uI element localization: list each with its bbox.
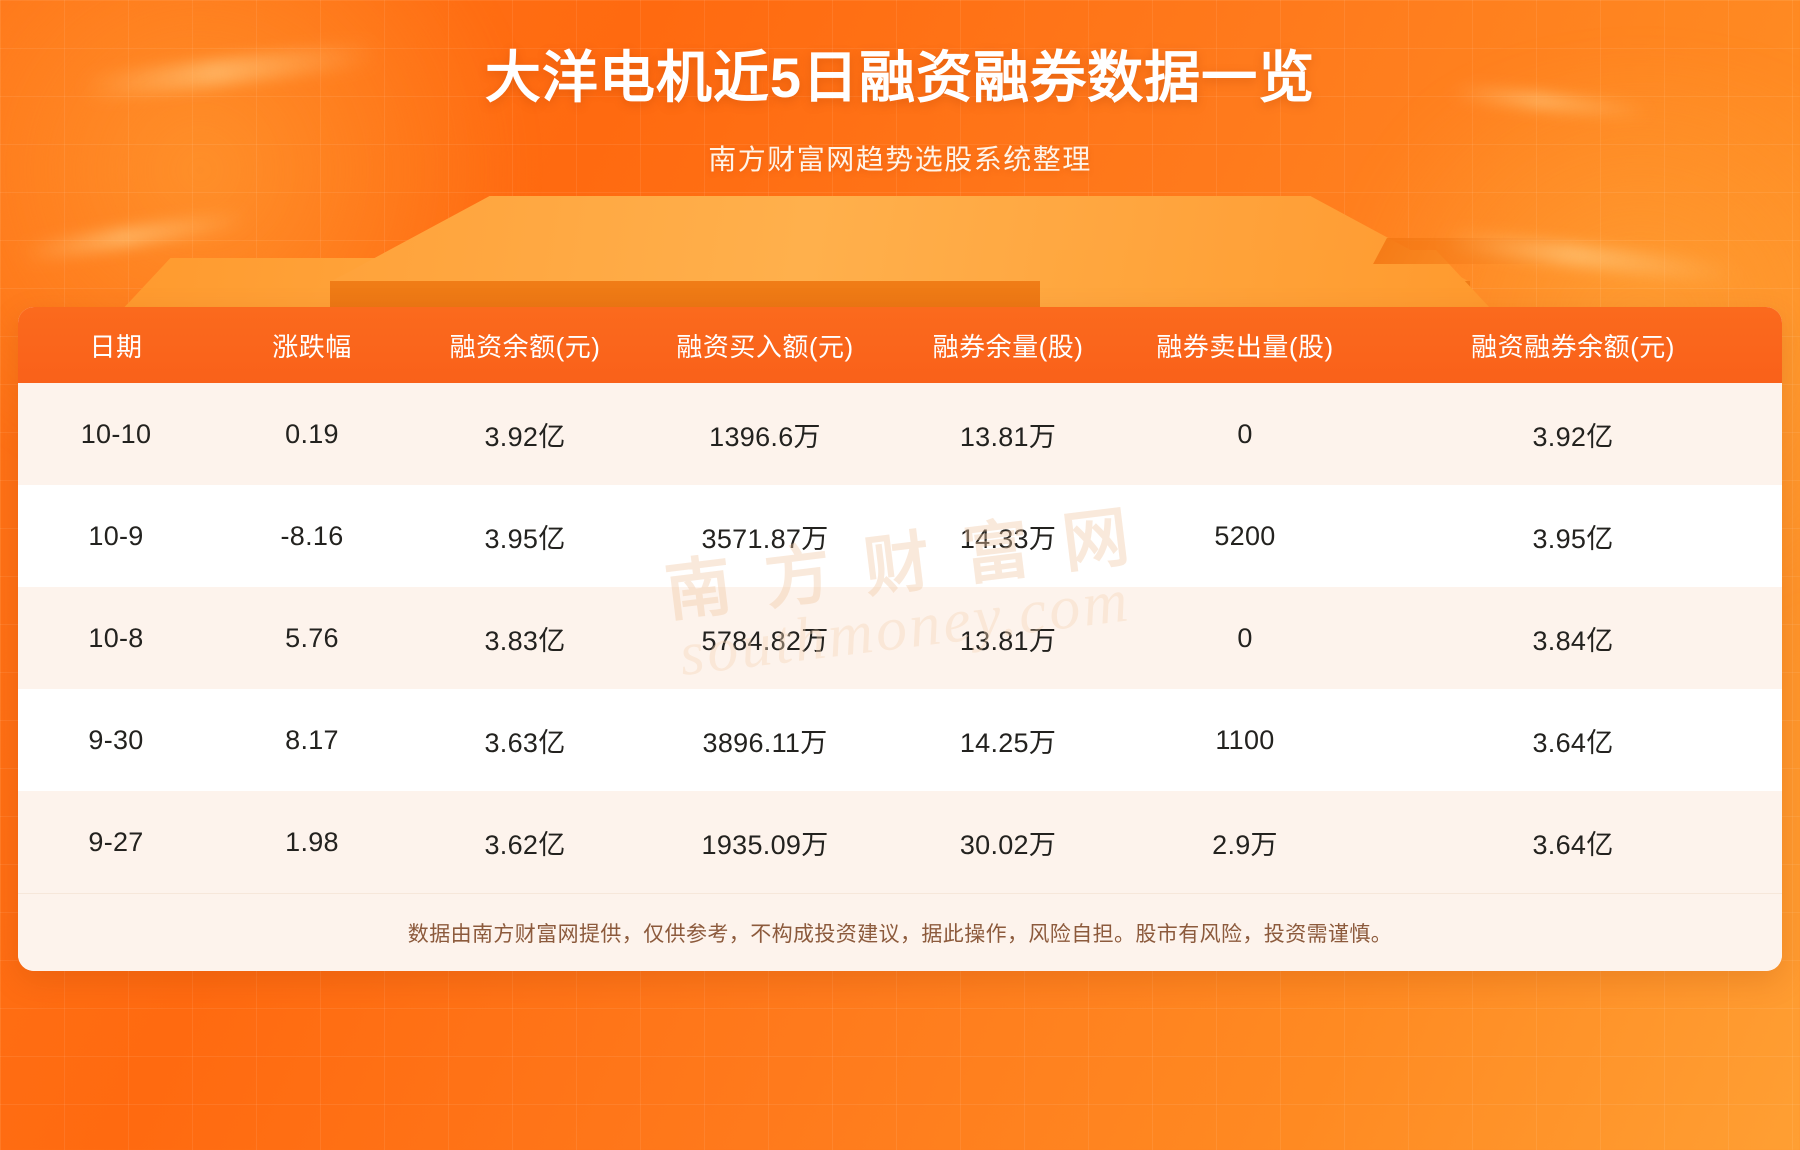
cell-financing-buy: 3896.11万	[640, 721, 890, 760]
table-row: 10-8 5.76 3.83亿 5784.82万 13.81万 0 3.84亿	[18, 587, 1782, 689]
table-row: 9-30 8.17 3.63亿 3896.11万 14.25万 1100 3.6…	[18, 689, 1782, 791]
column-header-date: 日期	[18, 327, 214, 364]
cell-securities-volume: 13.81万	[890, 415, 1126, 454]
table-body: 南方财富网 southmoney.com 10-10 0.19 3.92亿 13…	[18, 383, 1782, 893]
cell-securities-sell: 5200	[1126, 521, 1364, 552]
data-table-card: 日期 涨跌幅 融资余额(元) 融资买入额(元) 融券余量(股) 融券卖出量(股)…	[18, 307, 1782, 971]
cell-total-balance: 3.95亿	[1364, 517, 1782, 556]
page-header: 大洋电机近5日融资融券数据一览 南方财富网趋势选股系统整理	[0, 0, 1800, 178]
cell-financing-balance: 3.95亿	[410, 517, 640, 556]
cell-financing-buy: 5784.82万	[640, 619, 890, 658]
cell-financing-balance: 3.92亿	[410, 415, 640, 454]
cell-change: 5.76	[214, 623, 410, 654]
page-title: 大洋电机近5日融资融券数据一览	[0, 44, 1800, 112]
disclaimer-text: 数据由南方财富网提供，仅供参考，不构成投资建议，据此操作，风险自担。股市有风险，…	[408, 918, 1392, 948]
table-header-row: 日期 涨跌幅 融资余额(元) 融资买入额(元) 融券余量(股) 融券卖出量(股)…	[18, 307, 1782, 383]
cell-change: -8.16	[214, 521, 410, 552]
column-header-financing-buy: 融资买入额(元)	[640, 327, 890, 364]
cell-total-balance: 3.92亿	[1364, 415, 1782, 454]
cell-date: 10-10	[18, 419, 214, 450]
table-row: 10-9 -8.16 3.95亿 3571.87万 14.33万 5200 3.…	[18, 485, 1782, 587]
cell-date: 9-27	[18, 827, 214, 858]
cell-securities-volume: 13.81万	[890, 619, 1126, 658]
column-header-securities-sell: 融券卖出量(股)	[1126, 327, 1364, 364]
table-footer: 数据由南方财富网提供，仅供参考，不构成投资建议，据此操作，风险自担。股市有风险，…	[18, 893, 1782, 971]
cell-date: 9-30	[18, 725, 214, 756]
podium-riser-b	[634, 254, 678, 294]
cell-change: 0.19	[214, 419, 410, 450]
cell-securities-sell: 2.9万	[1126, 823, 1364, 862]
cell-date: 10-8	[18, 623, 214, 654]
cell-securities-volume: 14.25万	[890, 721, 1126, 760]
cell-financing-buy: 3571.87万	[640, 517, 890, 556]
column-header-change: 涨跌幅	[214, 327, 410, 364]
cell-financing-balance: 3.83亿	[410, 619, 640, 658]
cell-total-balance: 3.84亿	[1364, 619, 1782, 658]
table-row: 10-10 0.19 3.92亿 1396.6万 13.81万 0 3.92亿	[18, 383, 1782, 485]
cell-securities-sell: 1100	[1126, 725, 1364, 756]
cell-securities-volume: 14.33万	[890, 517, 1126, 556]
cell-date: 10-9	[18, 521, 214, 552]
cell-change: 1.98	[214, 827, 410, 858]
cell-financing-buy: 1396.6万	[640, 415, 890, 454]
cell-financing-balance: 3.62亿	[410, 823, 640, 862]
column-header-total-balance: 融资融券余额(元)	[1364, 327, 1782, 364]
cell-change: 8.17	[214, 725, 410, 756]
table-row: 9-27 1.98 3.62亿 1935.09万 30.02万 2.9万 3.6…	[18, 791, 1782, 893]
cell-securities-sell: 0	[1126, 623, 1364, 654]
cell-securities-sell: 0	[1126, 419, 1364, 450]
cell-total-balance: 3.64亿	[1364, 823, 1782, 862]
page-subtitle: 南方财富网趋势选股系统整理	[0, 138, 1800, 178]
cell-total-balance: 3.64亿	[1364, 721, 1782, 760]
column-header-financing-balance: 融资余额(元)	[410, 327, 640, 364]
cell-securities-volume: 30.02万	[890, 823, 1126, 862]
cell-financing-buy: 1935.09万	[640, 823, 890, 862]
cell-financing-balance: 3.63亿	[410, 721, 640, 760]
column-header-securities-volume: 融券余量(股)	[890, 327, 1126, 364]
